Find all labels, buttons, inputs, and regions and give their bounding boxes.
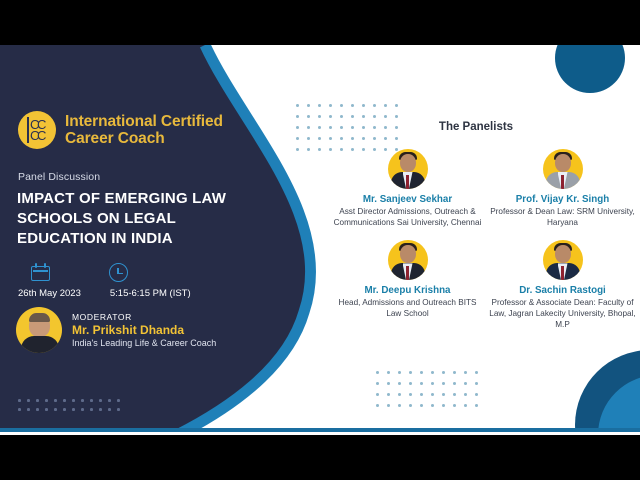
dot-grid-bottom-left [18,399,126,417]
brand-lockup: C C C C International Certified Career C… [18,111,223,149]
panelist-name: Mr. Sanjeev Sekhar [330,194,485,206]
panelist-card: Mr. Sanjeev Sekhar Asst Director Admissi… [330,149,485,228]
event-kicker: Panel Discussion [18,171,100,183]
iccc-circle-logo: C C C C [18,111,56,149]
moderator-avatar [16,307,62,353]
left-panel-content: C C C C International Certified Career C… [0,45,310,435]
clock-icon [109,263,128,282]
decor-circle-top-right [555,45,625,93]
brand-line-1: International Certified [65,113,223,130]
panelist-role: Professor & Associate Dean: Faculty of L… [485,298,640,330]
panelist-name: Mr. Deepu Krishna [330,285,485,297]
panelists-grid: Mr. Sanjeev Sekhar Asst Director Admissi… [330,149,640,331]
panelists-heading: The Panelists [386,121,566,133]
event-date: 26th May 2023 [18,288,81,299]
panelist-avatar [388,149,428,189]
event-headline: IMPACT OF EMERGING LAW SCHOOLS ON LEGAL … [17,189,267,249]
panelist-role: Head, Admissions and Outreach BITS Law S… [330,298,485,320]
letterbox-bottom [0,435,640,480]
panelist-avatar [543,149,583,189]
moderator-role-label: MODERATOR [72,312,216,322]
panelist-name: Dr. Sachin Rastogi [485,285,640,297]
moderator-name: Mr. Prikshit Dhanda [72,323,216,337]
panelist-avatar [388,240,428,280]
brand-name: International Certified Career Coach [65,113,223,148]
panelist-card: Mr. Deepu Krishna Head, Admissions and O… [330,240,485,330]
brand-line-2: Career Coach [65,130,223,147]
dot-grid-bottom-right [376,371,486,415]
panelist-card: Dr. Sachin Rastogi Professor & Associate… [485,240,640,330]
letterbox-top [0,0,640,45]
panelist-name: Prof. Vijay Kr. Singh [485,194,640,206]
panelist-card: Prof. Vijay Kr. Singh Professor & Dean L… [485,149,640,228]
moderator-block: MODERATOR Mr. Prikshit Dhanda India's Le… [16,307,216,353]
slide-viewer: C C C C International Certified Career C… [0,0,640,480]
event-time: 5:15-6:15 PM (IST) [110,288,191,299]
panelists-row-1: Mr. Sanjeev Sekhar Asst Director Admissi… [330,149,640,228]
panelist-role: Asst Director Admissions, Outreach & Com… [330,207,485,229]
moderator-tagline: India's Leading Life & Career Coach [72,338,216,348]
panelist-avatar [543,240,583,280]
event-meta: 26th May 2023 5:15-6:15 PM (IST) [18,263,298,299]
calendar-icon [31,263,50,281]
presentation-slide: C C C C International Certified Career C… [0,45,640,435]
panelist-role: Professor & Dean Law: SRM University, Ha… [485,207,640,229]
panelists-row-2: Mr. Deepu Krishna Head, Admissions and O… [330,240,640,330]
